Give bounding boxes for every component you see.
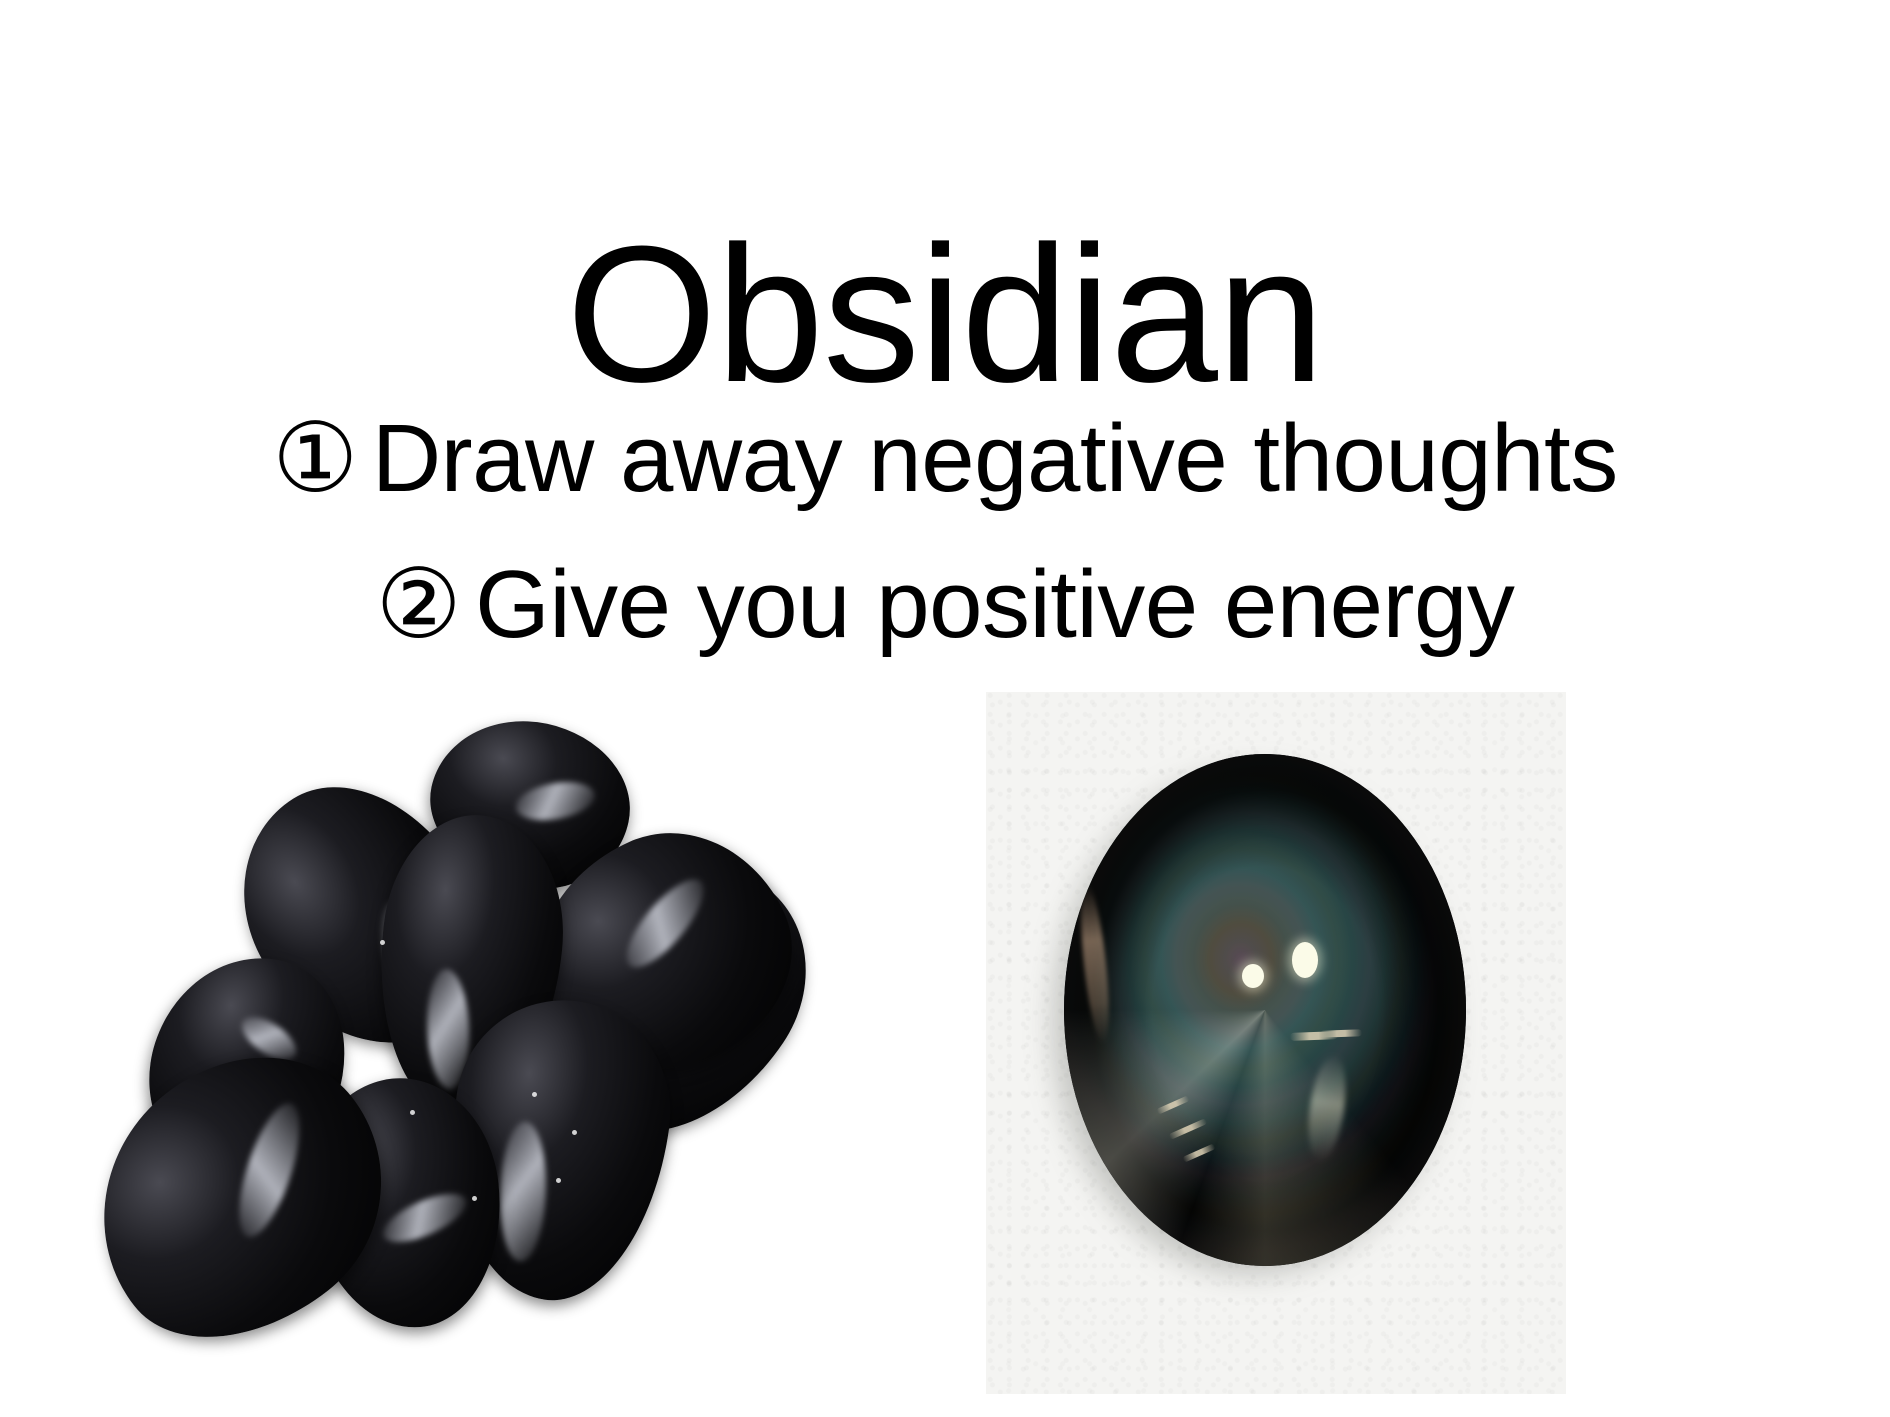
slide-canvas: Obsidian ①Draw away negative thoughts ②G… (0, 0, 1890, 1417)
bullet-list: ①Draw away negative thoughts ②Give you p… (0, 386, 1890, 678)
stone-speck (532, 1092, 537, 1097)
stone-speck (410, 1110, 415, 1115)
stone-speck (380, 940, 385, 945)
stone-speck (472, 1196, 477, 1201)
cabochon-highlight (1292, 942, 1318, 978)
cabochon-rim-light (1064, 754, 1466, 1266)
list-item-label: Draw away negative thoughts (372, 405, 1618, 512)
stone-speck (556, 1178, 561, 1183)
tumbled-obsidian-stones-image (80, 700, 820, 1360)
cabochon-stone (1064, 754, 1466, 1266)
list-item-label: Give you positive energy (475, 551, 1514, 658)
stone-speck (572, 1130, 577, 1135)
page-title: Obsidian (0, 218, 1890, 412)
circled-number-1-icon: ① (272, 411, 358, 507)
cabochon-reflection-streak (1320, 1029, 1362, 1037)
cabochon-highlight (1242, 964, 1264, 988)
rainbow-obsidian-cabochon-image (986, 692, 1566, 1394)
list-item: ②Give you positive energy (0, 532, 1890, 678)
list-item: ①Draw away negative thoughts (0, 386, 1890, 532)
circled-number-2-icon: ② (376, 557, 462, 653)
